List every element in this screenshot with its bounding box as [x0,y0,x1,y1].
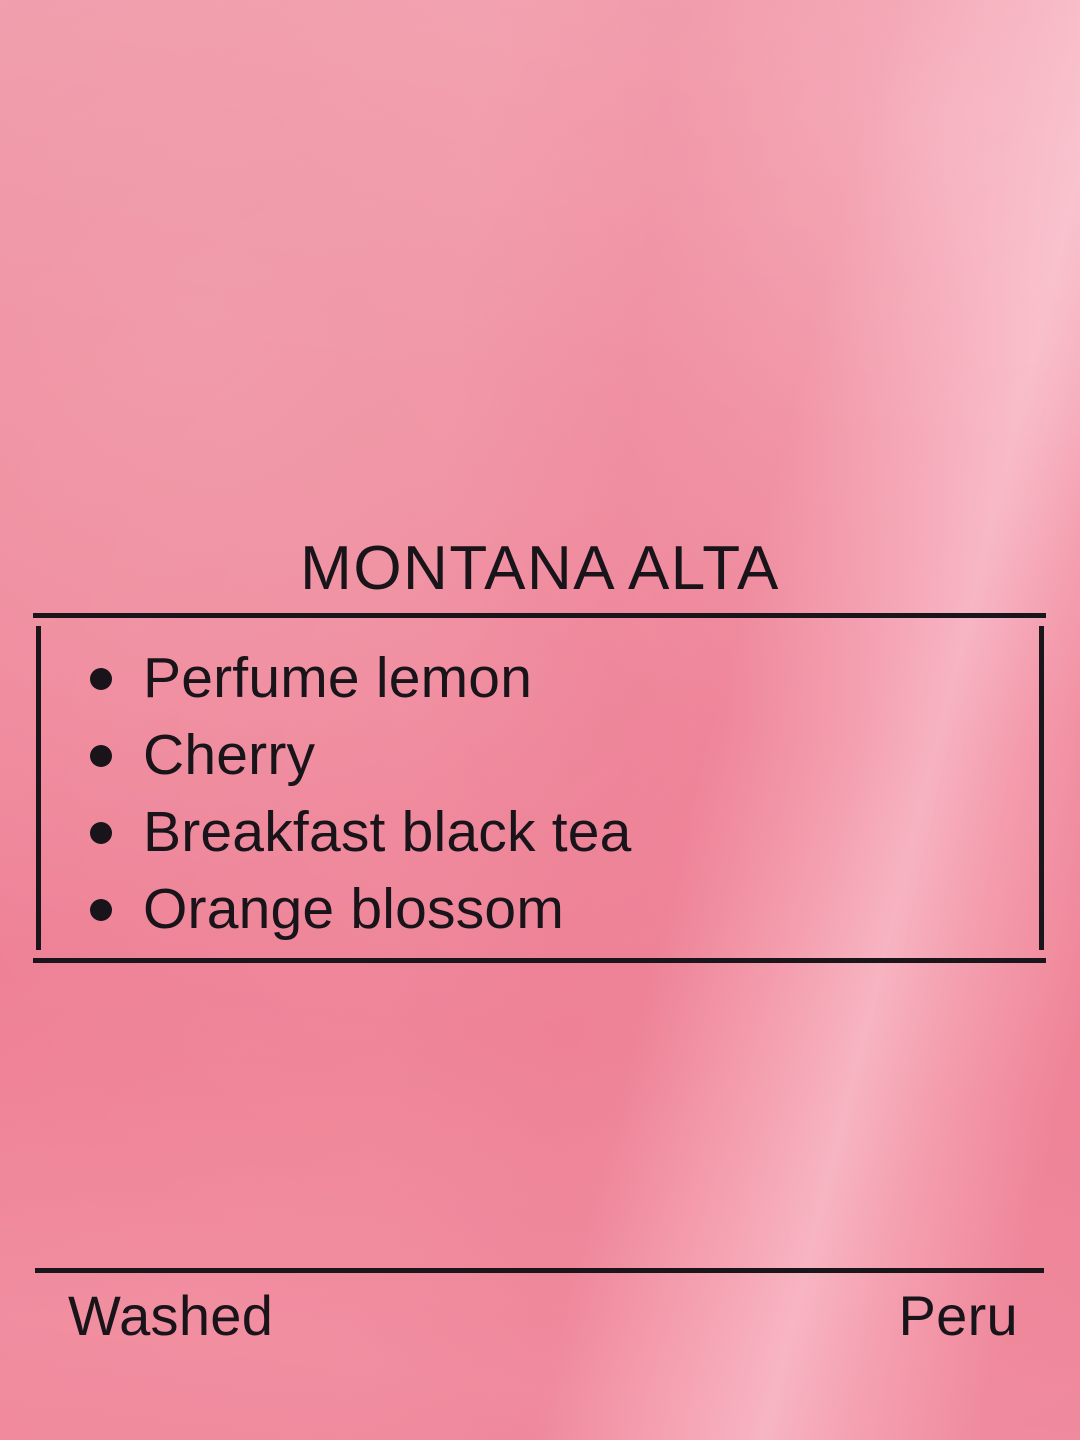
list-item: Orange blossom [33,871,1046,948]
tasting-note-label: Cherry [143,723,315,787]
tasting-note-label: Breakfast black tea [143,800,632,864]
bullet-icon [90,745,112,767]
footer: Washed Peru [68,1284,1018,1348]
bullet-icon [90,668,112,690]
coffee-bag-label: MONTANA ALTA Perfume lemon Cherry Breakf… [0,0,1080,1440]
bullet-icon [90,822,112,844]
page-title: MONTANA ALTA [0,538,1080,600]
process-label: Washed [68,1284,273,1348]
list-item: Perfume lemon [33,640,1046,717]
label-content: MONTANA ALTA Perfume lemon Cherry Breakf… [0,0,1080,1440]
tasting-notes-box: Perfume lemon Cherry Breakfast black tea… [33,613,1046,963]
tasting-note-label: Orange blossom [143,877,564,941]
list-item: Cherry [33,717,1046,794]
origin-label: Peru [899,1284,1019,1348]
tasting-notes-list: Perfume lemon Cherry Breakfast black tea… [33,618,1046,948]
list-item: Breakfast black tea [33,794,1046,871]
footer-divider [35,1268,1044,1273]
bullet-icon [90,899,112,921]
tasting-note-label: Perfume lemon [143,646,532,710]
